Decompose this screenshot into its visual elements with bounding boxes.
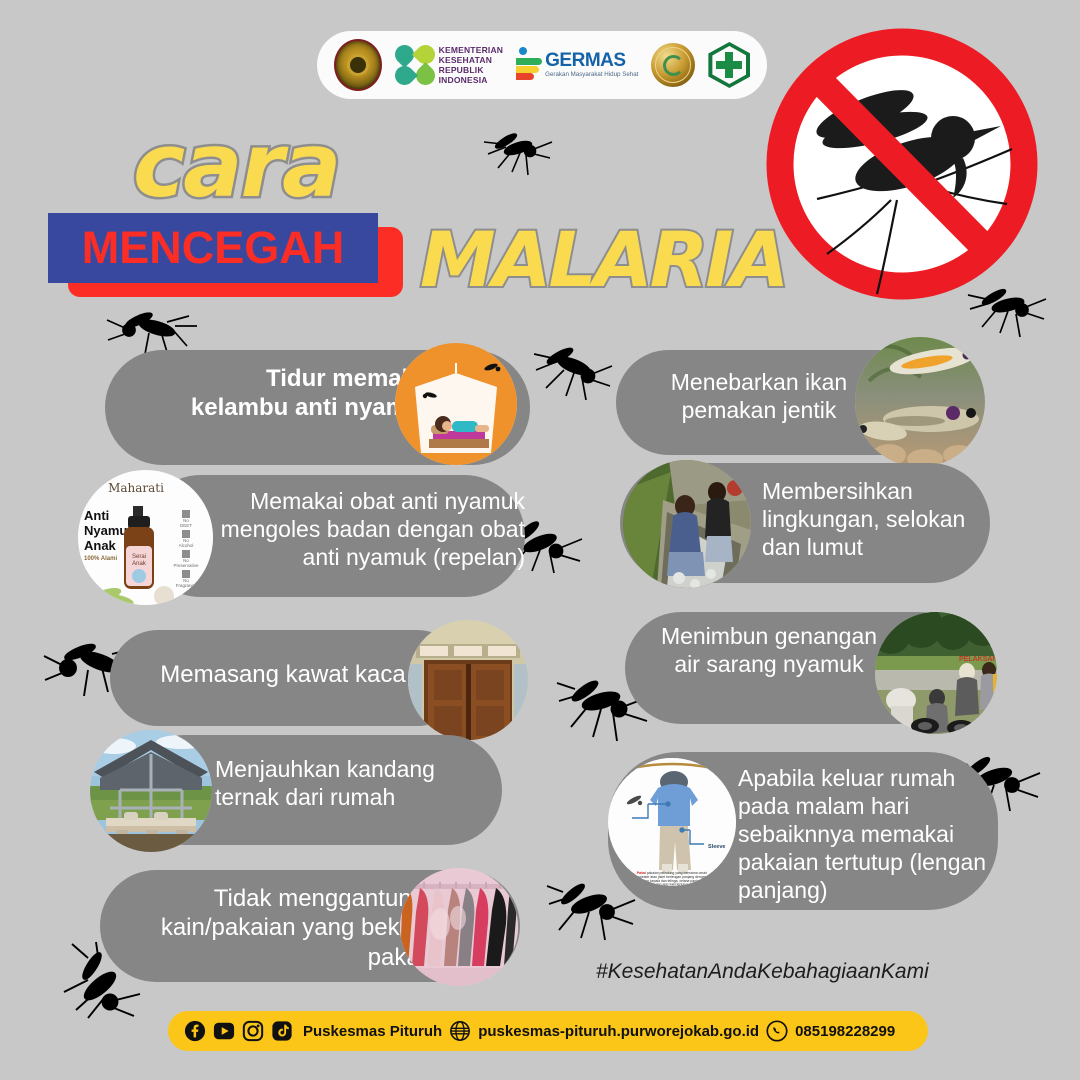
germas-label: GERMAS: [545, 51, 638, 70]
svg-text:Anak: Anak: [84, 538, 117, 553]
mosquito-decoration-icon: [960, 275, 1050, 345]
tip-repelan-text: Memakai obat anti nyamuk mengoles badan …: [215, 487, 525, 571]
svg-text:DEET: DEET: [180, 523, 192, 528]
germas-figure-icon: [516, 47, 542, 83]
title-malaria-text: MALARIA: [420, 222, 786, 298]
tip-kandang-text: Menjauhkan kandang ternak dari rumah: [215, 755, 475, 811]
svg-text:Maharati: Maharati: [108, 481, 164, 495]
kemenkes-clover-icon: [395, 45, 435, 85]
footer-bar: Puskesmas Pituruh puskesmas-pituruh.purw…: [168, 1011, 928, 1051]
facebook-icon[interactable]: [184, 1020, 206, 1042]
no-mosquito-sign: [757, 14, 1045, 314]
svg-text:Anak: Anak: [132, 561, 147, 567]
poster-canvas: KEMENTERIANKESEHATANREPUBLIKINDONESIA GE…: [0, 0, 1080, 1080]
mosquito-decoration-icon: [530, 330, 620, 410]
title-mencegah-text: MENCEGAH: [48, 213, 378, 283]
tip-menggantung-image: [400, 868, 518, 986]
tip-genangan-text: Menimbun genangan air sarang nyamuk: [655, 622, 883, 678]
svg-text:Serai: Serai: [132, 554, 146, 560]
tip-kelambu-text: Tidur memakai kelambu anti nyamuk: [165, 364, 435, 423]
tip-lingkungan-image: [623, 460, 751, 588]
logo-puskesmas-hexagon: [708, 42, 750, 88]
tip-kawat-text: Memasang kawat kaca: [118, 660, 448, 689]
svg-text:Preservative: Preservative: [173, 563, 199, 568]
logo-paripurna-medal: [651, 43, 695, 87]
svg-text:100% Alami: 100% Alami: [84, 556, 117, 562]
tip-genangan-image: PELAKSANAAN: [875, 612, 997, 734]
svg-text:Alcohol: Alcohol: [179, 543, 194, 548]
tip-pakaian-image: Sleeve Pakai pakaian pelindung yang berw…: [608, 758, 736, 886]
youtube-icon[interactable]: [213, 1020, 235, 1042]
tip-menggantung-text: Tidak menggantung kain/pakaian yang beka…: [150, 884, 425, 972]
footer-phone: 085198228299: [795, 1023, 895, 1040]
tip-repelan-image: Maharati Anti Nyamuk Anak 100% Alami Ser…: [78, 470, 213, 605]
instagram-icon[interactable]: [242, 1020, 264, 1042]
logo-germas: GERMAS Gerakan Masyarakat Hidup Sehat: [516, 47, 638, 83]
tip-pakaian-text: Apabila keluar rumah pada malam hari seb…: [738, 764, 988, 904]
kemenkes-label: KEMENTERIANKESEHATANREPUBLIKINDONESIA: [439, 45, 504, 85]
title-line-1: cara: [133, 122, 339, 210]
mosquito-decoration-icon: [480, 120, 560, 190]
tip-ikan-image: [855, 337, 985, 467]
footer-handle: Puskesmas Pituruh: [303, 1023, 442, 1040]
svg-text:Sleeve: Sleeve: [708, 844, 725, 850]
logo-bar: KEMENTERIANKESEHATANREPUBLIKINDONESIA GE…: [317, 31, 767, 99]
whatsapp-icon[interactable]: [766, 1020, 788, 1042]
tip-kandang-image: [90, 730, 212, 852]
svg-text:PELAKSANAAN: PELAKSANAAN: [959, 656, 997, 663]
logo-kemenkes: KEMENTERIANKESEHATANREPUBLIKINDONESIA: [395, 45, 504, 85]
germas-sublabel: Gerakan Masyarakat Hidup Sehat: [545, 71, 638, 79]
tiktok-icon[interactable]: [271, 1020, 293, 1042]
footer-website[interactable]: puskesmas-pituruh.purworejokab.go.id: [478, 1023, 759, 1040]
tip-ikan-text: Menebarkan ikan pemakan jentik: [644, 368, 874, 424]
logo-purworejo-regency-crest: [334, 39, 382, 91]
globe-icon: [449, 1020, 471, 1042]
tip-kelambu-image: [395, 343, 517, 465]
hashtag-text: #KesehatanAndaKebahagiaanKami: [596, 960, 929, 984]
tip-kawat-image: [408, 620, 528, 740]
title-mencegah-badge: MENCEGAH: [48, 213, 403, 297]
svg-text:Anti: Anti: [84, 508, 109, 523]
tip-lingkungan-text: Membersihkan lingkungan, selokan dan lum…: [762, 477, 977, 561]
